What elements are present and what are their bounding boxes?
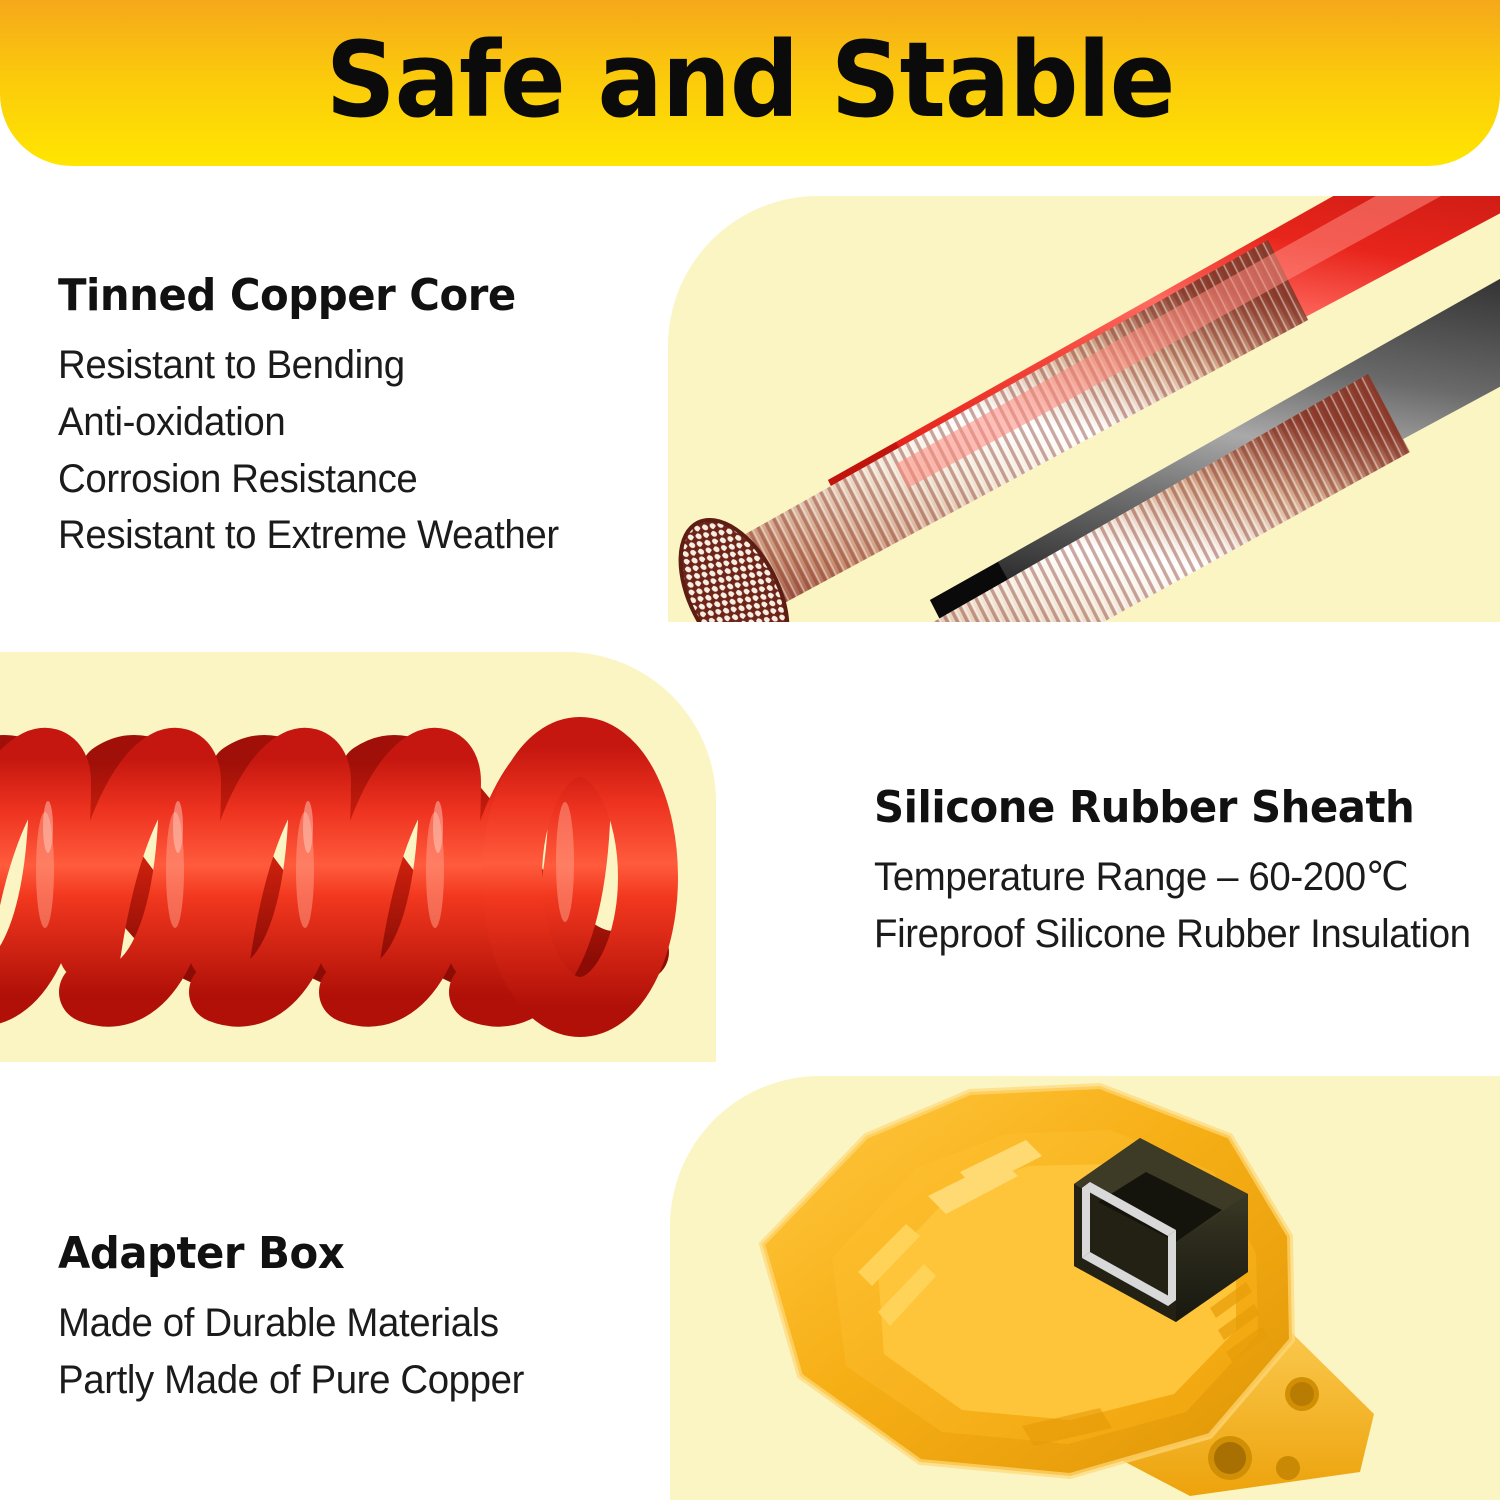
yellow-battery-adapter-box-image xyxy=(670,1076,1500,1500)
feature-line: Fireproof Silicone Rubber Insulation xyxy=(874,906,1471,963)
feature-heading: Tinned Copper Core xyxy=(58,270,554,321)
panel-tinned-copper-core xyxy=(668,196,1500,622)
feature-line: Resistant to Bending xyxy=(58,337,559,394)
feature-text-adapter-box: Adapter Box Made of Durable Materials Pa… xyxy=(58,1228,543,1409)
feature-line: Resistant to Extreme Weather xyxy=(58,507,559,564)
feature-heading: Adapter Box xyxy=(58,1228,519,1279)
feature-text-silicone-rubber-sheath: Silicone Rubber Sheath Temperature Range… xyxy=(874,782,1496,963)
feature-line: Partly Made of Pure Copper xyxy=(58,1352,524,1409)
infographic-root: Safe and Stable xyxy=(0,0,1500,1500)
feature-line: Anti-oxidation xyxy=(58,394,559,451)
panel-adapter-box xyxy=(670,1076,1500,1500)
red-coiled-silicone-cable-image xyxy=(0,652,716,1062)
header-banner: Safe and Stable xyxy=(0,0,1500,166)
feature-line: Made of Durable Materials xyxy=(58,1295,524,1352)
feature-line: Temperature Range – 60-200℃ xyxy=(874,849,1471,906)
tinned-copper-wire-ends-image xyxy=(668,196,1500,622)
feature-text-tinned-copper-core: Tinned Copper Core Resistant to Bending … xyxy=(58,270,580,564)
page-title: Safe and Stable xyxy=(326,28,1175,132)
feature-line: Corrosion Resistance xyxy=(58,451,559,508)
feature-heading: Silicone Rubber Sheath xyxy=(874,782,1464,833)
panel-silicone-coil xyxy=(0,652,716,1062)
